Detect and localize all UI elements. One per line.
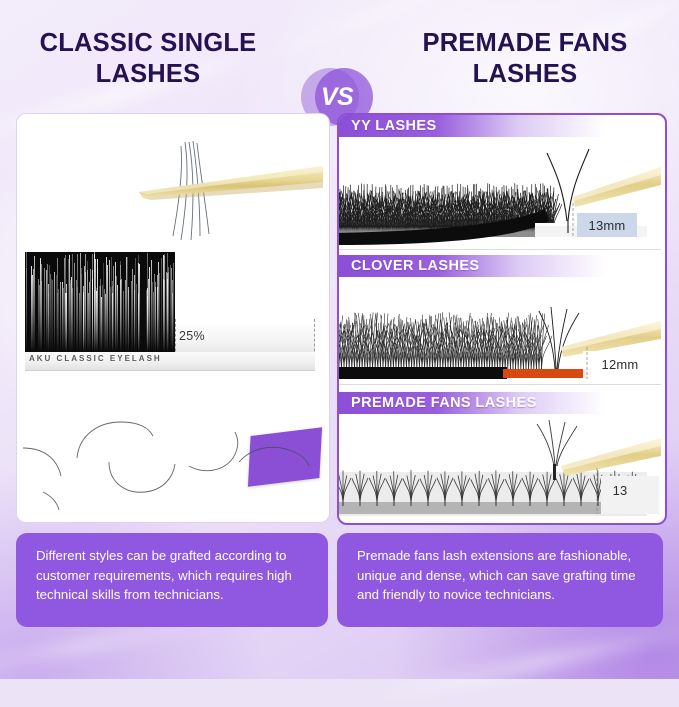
size-label-premade-fans-lashes: 13 — [601, 476, 639, 504]
lash-hair — [26, 268, 27, 352]
section-title-clover-lashes: CLOVER LASHES — [339, 258, 479, 274]
lash-hair — [139, 264, 140, 352]
lash-hair — [121, 279, 122, 353]
lash-hair — [87, 270, 88, 352]
lash-hair — [125, 280, 126, 352]
tweezers-with-single-lashes-icon — [137, 136, 327, 246]
lash-hair — [115, 276, 116, 352]
lash-hair — [152, 282, 153, 352]
lash-hair — [54, 272, 55, 352]
lash-hair — [69, 255, 70, 352]
section-clover-lashes: CLOVER LASHES — [339, 249, 661, 384]
lash-hair — [112, 286, 113, 352]
section-banner-yy-lashes: YY LASHES — [339, 115, 629, 137]
lash-hair — [46, 270, 47, 353]
lash-hair — [103, 263, 104, 352]
section-banner-clover-lashes: CLOVER LASHES — [339, 255, 629, 277]
lash-hair — [83, 295, 84, 352]
left-title: CLASSIC SINGLE LASHES — [8, 28, 288, 90]
lash-hair — [100, 279, 101, 352]
lash-hair — [161, 258, 162, 353]
section-banner-premade-fans-lashes: PREMADE FANS LASHES — [339, 392, 629, 414]
header: CLASSIC SINGLE LASHES PREMADE FANS LASHE… — [0, 28, 679, 102]
lash-hair — [51, 279, 52, 352]
lash-hair — [172, 280, 173, 352]
section-artwork-premade-fans-lashes: 13 — [339, 414, 661, 519]
right-title: PREMADE FANS LASHES — [385, 28, 665, 90]
lash-hair — [107, 265, 108, 352]
lash-hair — [64, 258, 65, 353]
lash-hair — [167, 279, 168, 352]
product-comparison-infographic: CLASSIC SINGLE LASHES PREMADE FANS LASHE… — [0, 0, 679, 679]
classic-lash-tray-graphic: {} — [25, 252, 175, 352]
section-divider — [339, 384, 661, 385]
lash-hair — [164, 254, 165, 352]
lash-hair — [136, 284, 137, 352]
lash-hair — [77, 254, 78, 352]
lash-hair — [172, 293, 173, 353]
lash-hair — [151, 260, 152, 352]
lash-hair — [56, 275, 57, 352]
premade-fans-lashes-panel: YY LASHES — [337, 113, 667, 525]
lash-hair — [127, 257, 128, 352]
size-label-yy-lashes: 13mm — [577, 213, 637, 237]
section-artwork-clover-lashes: 12mm — [339, 277, 661, 384]
lash-hair — [44, 268, 45, 352]
lash-hair — [62, 282, 63, 352]
lash-hair — [138, 255, 139, 353]
classic-single-lashes-panel: {} 25% AKU CLASSIC EYELASH mple, — [16, 113, 330, 523]
lash-hair — [89, 282, 90, 352]
lash-hair — [116, 276, 117, 353]
lash-hair — [66, 284, 67, 352]
lash-hair — [97, 268, 98, 352]
caption-classic-single-lashes: Different styles can be grafted accordin… — [16, 533, 328, 627]
lash-hair — [48, 293, 49, 352]
lash-hair — [39, 285, 40, 352]
lash-hair — [159, 273, 160, 352]
scattered-single-lashes-graphic — [17, 400, 329, 520]
section-yy-lashes: YY LASHES — [339, 115, 661, 249]
lash-hair — [72, 254, 73, 352]
lash-hair — [158, 262, 159, 352]
lash-hair — [33, 269, 34, 352]
lash-hair — [153, 292, 154, 352]
lash-hair — [94, 252, 95, 352]
lash-hair — [163, 255, 164, 352]
lash-hair — [109, 260, 110, 352]
lash-hair — [155, 282, 156, 352]
section-title-yy-lashes: YY LASHES — [339, 118, 437, 134]
caption-premade-fans-lashes: Premade fans lash extensions are fashion… — [337, 533, 663, 627]
lash-hair — [149, 267, 150, 352]
lash-hair — [80, 253, 81, 352]
lash-hair — [41, 281, 42, 352]
lash-hair — [147, 296, 148, 352]
tray-brand-label: AKU CLASSIC EYELASH — [29, 354, 162, 363]
lash-tray-base: AKU CLASSIC EYELASH — [25, 352, 315, 371]
section-divider — [339, 249, 661, 250]
lash-hair — [34, 256, 35, 352]
section-title-premade-fans-lashes: PREMADE FANS LASHES — [339, 395, 537, 411]
section-artwork-yy-lashes: 13mm — [339, 137, 661, 249]
lash-hair — [31, 276, 32, 352]
background-light-streak — [362, 617, 679, 707]
purple-sample-tag-label: mple, — [32, 118, 47, 150]
size-label-clover-lashes: 12mm — [591, 353, 649, 375]
lash-hair — [60, 282, 61, 352]
lash-hair — [58, 289, 59, 352]
lash-hair — [74, 263, 75, 352]
percent-label: 25% — [179, 329, 205, 343]
section-premade-fans-lashes: PREMADE FANS LASHES — [339, 384, 661, 519]
